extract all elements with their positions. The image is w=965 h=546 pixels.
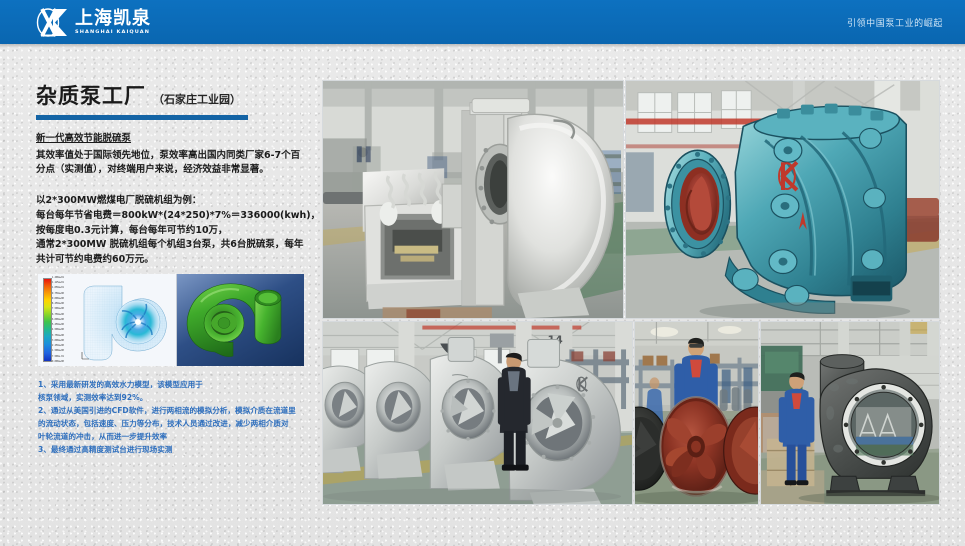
paragraph-line: 其效率值处于国际领先地位，泵效率高出国内同类厂家6-7个百	[36, 149, 321, 164]
slide-canvas: 上海凯泉 SHANGHAI KAIQUAN 引领中国泵工业的崛起 杂质泵工厂 （…	[0, 0, 965, 546]
photo-raw-casing-with-worker[interactable]	[760, 321, 940, 505]
paragraph-line: 共计可节约电费约60万元。	[36, 253, 321, 268]
cfd-scale-tick: 8.250e+00	[52, 303, 76, 305]
cfd-scale-tick: 5.250e+00	[52, 324, 76, 326]
cfd-scale-tick: 9.750e+00	[52, 293, 76, 295]
cfd-scale-tick: 1.050e+01	[52, 287, 76, 289]
green-volute-3d-render	[181, 278, 300, 362]
paragraph-efficiency: 新一代高效节能脱硫泵 其效率值处于国际领先地位，泵效率高出国内同类厂家6-7个百…	[36, 132, 321, 178]
brand-name-en: SHANGHAI KAIQUAN	[75, 30, 151, 35]
paragraph-line: 每台每年节省电费＝800kW*(24*250)*7%＝336000(kwh)，	[36, 209, 321, 224]
paragraph-heading: 新一代高效节能脱硫泵	[36, 132, 321, 147]
cfd-scale-tick: 4.500e+00	[52, 329, 76, 331]
cfd-scale-tick: 6.000e+00	[52, 319, 76, 321]
brand-logo[interactable]: 上海凯泉 SHANGHAI KAIQUAN	[36, 6, 151, 39]
cfd-contour-plot	[78, 280, 173, 362]
footnote-list: 1、采用最新研发的高效水力模型，该模型应用于 核泵领域，实测效率达到92%。 2…	[38, 378, 323, 456]
photo-pump-casing-row-with-worker[interactable]: 14	[322, 321, 633, 505]
left-content-column: 杂质泵工厂 （石家庄工业园） 新一代高效节能脱硫泵 其效率值处于国际领先地位，泵…	[36, 80, 321, 268]
pump-row-photo-render: 14	[323, 322, 632, 504]
photo-white-desulfurization-pump[interactable]	[322, 80, 624, 319]
blue-pump-photo-render	[626, 81, 939, 318]
photo-blue-slurry-pump-casing[interactable]	[625, 80, 940, 319]
raw-casing-photo-render	[761, 322, 939, 504]
footnote-item: 2、通过从美国引进的CFD软件，进行两相流的模拟分析，模拟介质在流道里	[38, 404, 323, 417]
footnote-item: 3、最终通过高精度测试台进行现场实测	[38, 443, 323, 456]
footnote-item: 的流动状态，包括速度、压力等分布，技术人员通过改进，减少两相介质对	[38, 417, 323, 430]
impellers-photo-render	[635, 322, 758, 504]
title-row: 杂质泵工厂 （石家庄工业园）	[36, 80, 321, 110]
paragraph-line: 通常2*300MW 脱硫机组每个机组3台泵，共6台脱硫泵，每年	[36, 238, 321, 253]
cfd-scale-tick: 7.500e-01	[52, 356, 76, 358]
cfd-figure-row: 1.200e+011.125e+011.050e+019.750e+009.00…	[38, 274, 304, 366]
paragraph-savings-example: 以2*300MW燃煤电厂脱硫机组为例： 每台每年节省电费＝800kW*(24*2…	[36, 194, 321, 268]
cfd-scale-tick: 1.125e+01	[52, 282, 76, 284]
page-subtitle: （石家庄工业园）	[153, 91, 241, 107]
cfd-scale-tick: 9.000e+00	[52, 298, 76, 300]
cfd-scale-tick: 1.200e+01	[52, 277, 76, 279]
footnote-item: 叶轮流道的冲击，从而进一步提升效率	[38, 430, 323, 443]
paragraph-line: 分点（实测值），对终端用户来说，经济效益非常显著。	[36, 163, 321, 178]
cfd-scale-tick: 1.500e+00	[52, 350, 76, 352]
kaiquan-kq-logo-icon	[36, 7, 70, 38]
cfd-scale-tick: 0.000e+00	[52, 361, 76, 363]
page-title: 杂质泵工厂	[36, 80, 146, 110]
cfd-velocity-contour-volute: 1.200e+011.125e+011.050e+019.750e+009.00…	[38, 274, 177, 366]
cfd-scale-tick: 3.000e+00	[52, 340, 76, 342]
white-pump-photo-render	[323, 81, 623, 318]
cfd-scale-tick-labels: 1.200e+011.125e+011.050e+019.750e+009.00…	[52, 277, 76, 363]
header-shadow	[0, 44, 965, 48]
header-tagline: 引领中国泵工业的崛起	[847, 0, 943, 44]
title-underline-rule	[36, 115, 248, 120]
cfd-scale-tick: 3.750e+00	[52, 335, 76, 337]
footnote-item: 1、采用最新研发的高效水力模型，该模型应用于	[38, 378, 323, 391]
brand-name-cn: 上海凯泉	[75, 10, 151, 28]
cfd-color-scale-bar	[43, 278, 52, 362]
paragraph-line: 以2*300MW燃煤电厂脱硫机组为例：	[36, 194, 321, 209]
photo-red-impellers[interactable]	[634, 321, 759, 505]
cfd-scale-tick: 2.250e+00	[52, 345, 76, 347]
green-3d-volute-flow-passage-model	[177, 274, 304, 366]
cfd-scale-tick: 6.750e+00	[52, 314, 76, 316]
footnote-item: 核泵领域，实测效率达到92%。	[38, 391, 323, 404]
photo-grid: 14	[322, 80, 940, 505]
header-bar: 上海凯泉 SHANGHAI KAIQUAN 引领中国泵工业的崛起	[0, 0, 965, 44]
cfd-axis-triad-icon	[81, 351, 90, 360]
paragraph-line: 按每度电0.3元计算，每台每年可节约10万，	[36, 224, 321, 239]
cfd-scale-tick: 7.500e+00	[52, 308, 76, 310]
